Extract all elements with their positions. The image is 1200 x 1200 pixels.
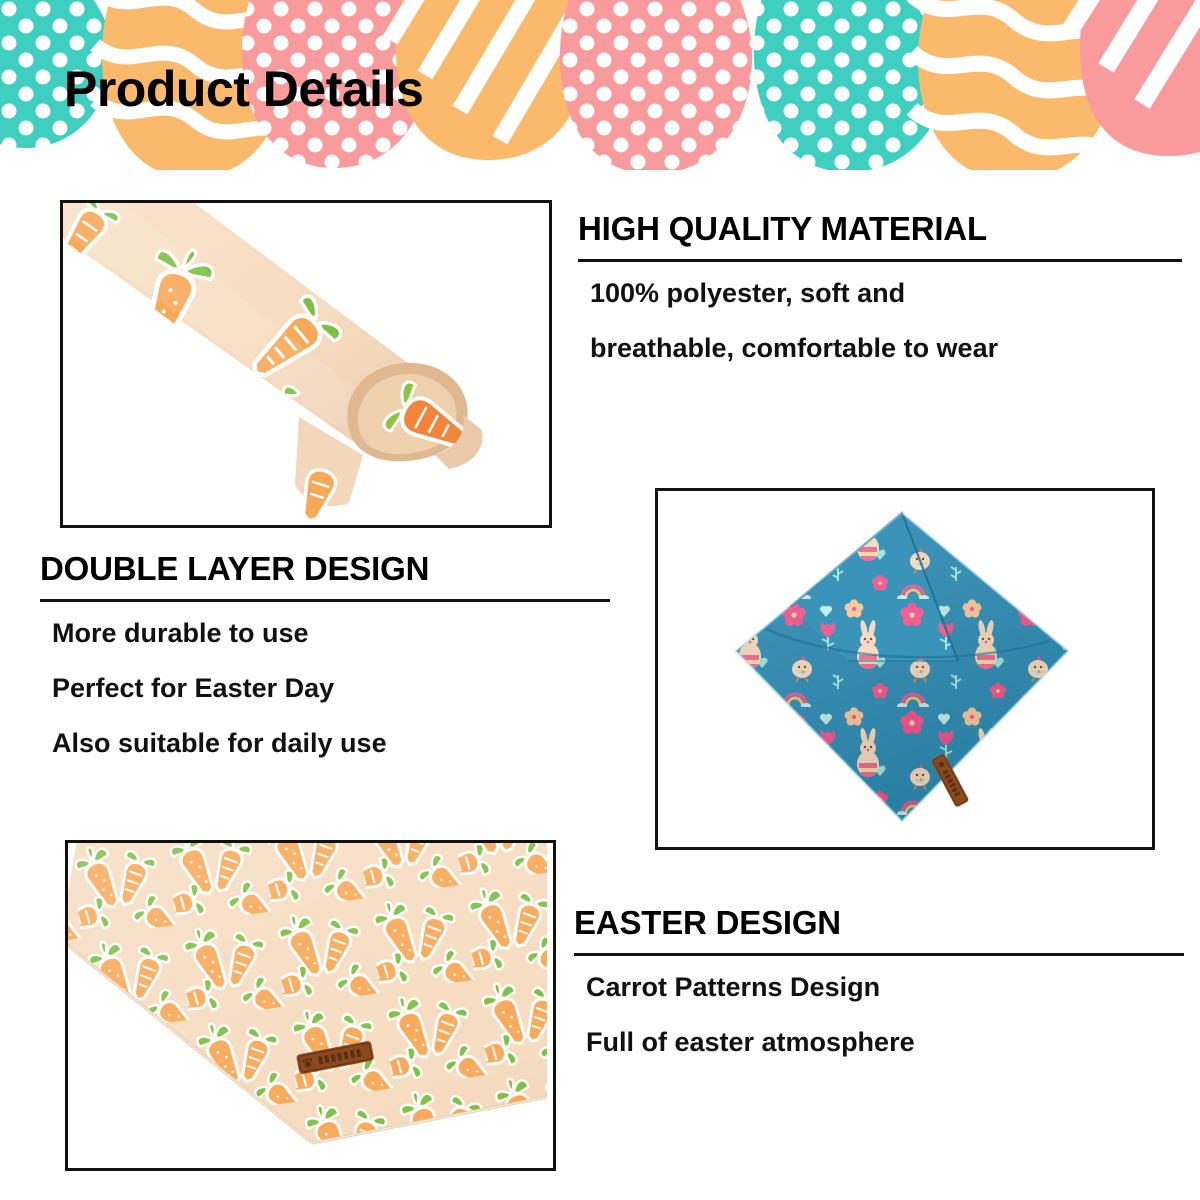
heading-divider: [578, 259, 1182, 262]
product-photo-blue-bunny-bandana: [655, 488, 1155, 850]
section-heading: EASTER DESIGN: [574, 906, 1184, 941]
body-line: 100% polyester, soft and: [590, 280, 1182, 307]
body-line: breathable, comfortable to wear: [590, 335, 1182, 362]
section-easter-design: EASTER DESIGN Carrot Patterns Design Ful…: [574, 906, 1184, 1056]
heading-divider: [40, 599, 610, 602]
section-heading: HIGH QUALITY MATERIAL: [578, 212, 1182, 247]
egg-pink-dots-2: [560, 0, 752, 170]
page-title: Product Details: [64, 64, 423, 114]
heading-divider: [574, 953, 1184, 956]
body-line: Carrot Patterns Design: [586, 974, 1184, 1001]
section-body: Carrot Patterns Design Full of easter at…: [574, 974, 1184, 1056]
section-body: 100% polyester, soft and breathable, com…: [578, 280, 1182, 362]
body-line: Perfect for Easter Day: [52, 675, 610, 702]
body-line: Full of easter atmosphere: [586, 1029, 1184, 1056]
section-high-quality-material: HIGH QUALITY MATERIAL 100% polyester, so…: [578, 212, 1182, 362]
product-photo-carrot-bandana-rolled: [60, 200, 552, 528]
body-line: Also suitable for daily use: [52, 730, 610, 757]
section-body: More durable to use Perfect for Easter D…: [40, 620, 610, 757]
body-line: More durable to use: [52, 620, 610, 647]
product-photo-carrot-bandana-flat: [65, 840, 556, 1171]
section-heading: DOUBLE LAYER DESIGN: [40, 552, 610, 587]
section-double-layer-design: DOUBLE LAYER DESIGN More durable to use …: [40, 552, 610, 757]
